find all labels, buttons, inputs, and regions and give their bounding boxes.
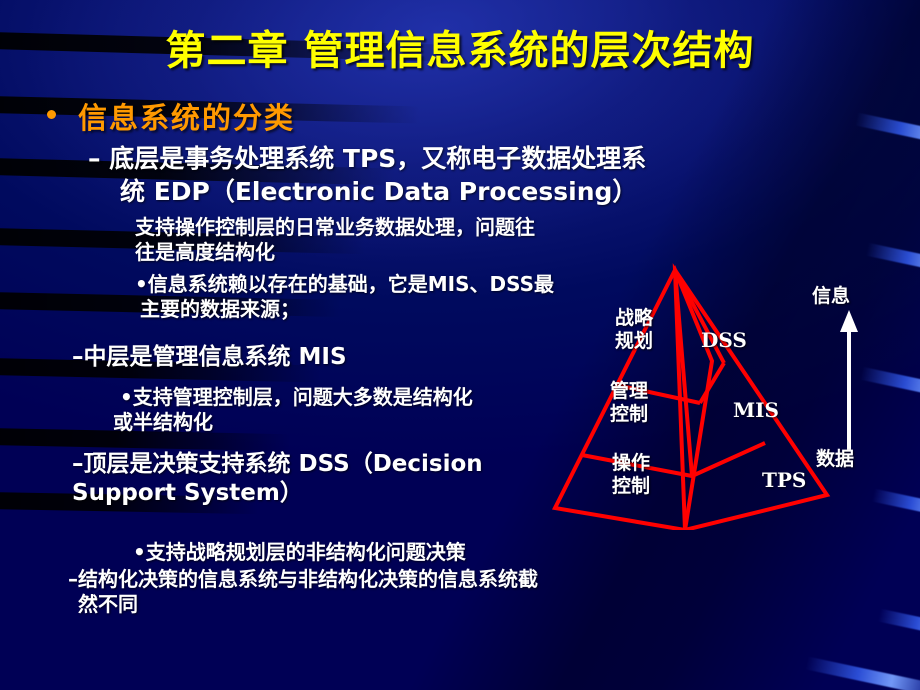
axis-arrow-icon — [838, 310, 860, 450]
outline-item2-sub1-line1: •支持管理控制层，问题大多数是结构化 — [120, 385, 473, 410]
outline-item1-sub1-line1: 支持操作控制层的日常业务数据处理，问题往 — [135, 215, 535, 240]
pyramid-layer-3-cn: 操作 控制 — [612, 452, 650, 498]
page-title: 第二章 管理信息系统的层次结构 — [0, 18, 920, 76]
outline-item1-sub2-line1: •信息系统赖以存在的基础，它是MIS、DSS最 — [135, 272, 554, 297]
outline-item1-sub2-line2: 主要的数据来源； — [140, 297, 300, 322]
pyramid-layer-3-cn-line1: 操作 — [612, 452, 650, 474]
pyramid-layer-1-cn: 战略 规划 — [615, 307, 653, 353]
outline-item2-line1: –中层是管理信息系统 MIS — [72, 343, 347, 372]
outline-item4-line2: 然不同 — [78, 592, 138, 617]
outline-item1-line2: 统 EDP（Electronic Data Processing） — [120, 176, 637, 207]
axis-top-label: 信息 — [812, 281, 850, 308]
outline-item3-line2: Support System） — [72, 479, 303, 508]
bullet-dot-icon — [47, 110, 56, 119]
pyramid-layer-1-system: DSS — [701, 328, 747, 352]
pyramid-layer-2-system: MIS — [733, 398, 779, 422]
axis-bottom-label: 数据 — [816, 444, 854, 471]
pyramid-layer-3-cn-line2: 控制 — [612, 475, 650, 497]
pyramid-diagram: 战略 规划 管理 控制 操作 控制 DSS MIS TPS — [540, 255, 850, 530]
pyramid-layer-2-cn-line2: 控制 — [610, 403, 648, 425]
outline-level1: 信息系统的分类 — [78, 95, 295, 137]
outline-item1-line1: – 底层是事务处理系统 TPS，又称电子数据处理系 — [88, 143, 646, 174]
outline-item1-sub1-line2: 往是高度结构化 — [135, 240, 275, 265]
pyramid-layer-1-cn-line1: 战略 — [615, 307, 653, 329]
pyramid-layer-2-cn-line1: 管理 — [610, 380, 648, 402]
outline-item3-line1: –顶层是决策支持系统 DSS（Decision — [72, 450, 483, 479]
slide-canvas: 第二章 管理信息系统的层次结构 信息系统的分类 – 底层是事务处理系统 TPS，… — [0, 0, 920, 690]
pyramid-layer-2-cn: 管理 控制 — [610, 380, 648, 426]
pyramid-layer-1-cn-line2: 规划 — [615, 330, 653, 352]
pyramid-divider-mid-right — [692, 443, 765, 476]
outline-item3-sub1-line1: •支持战略规划层的非结构化问题决策 — [133, 540, 466, 565]
outline-item4-line1: –结构化决策的信息系统与非结构化决策的信息系统截 — [68, 567, 538, 592]
outline-item2-sub1-line2: 或半结构化 — [113, 410, 213, 435]
pyramid-layer-3-system: TPS — [762, 468, 806, 492]
